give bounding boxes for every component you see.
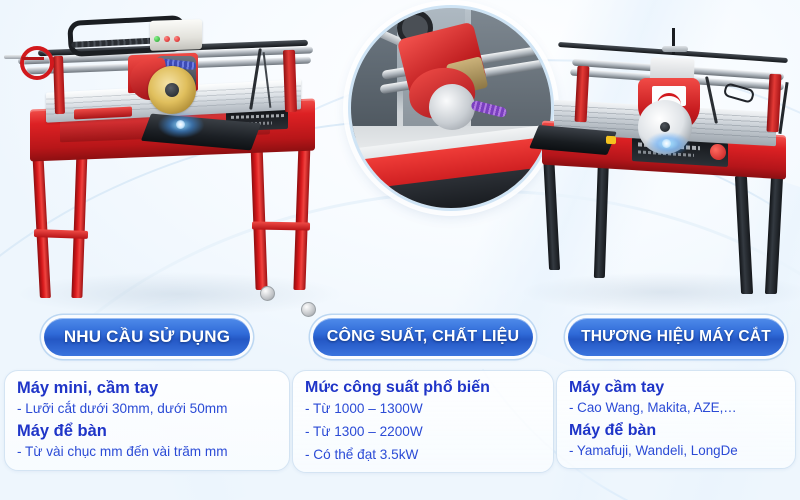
right-saw-adjust-knob	[662, 46, 688, 52]
card-thuong-hieu-may-cat: Máy cầm tay - Cao Wang, Makita, AZE,… Má…	[556, 370, 796, 469]
card-line: - Lưỡi cắt dưới 30mm, dưới 50mm	[17, 400, 279, 418]
card-heading: Máy mini, cầm tay	[17, 378, 279, 399]
left-saw-stop-button	[164, 36, 170, 42]
card-line: - Có thể đạt 3.5kW	[305, 446, 543, 464]
infographic-page: NHU CẦU SỬ DỤNG Máy mini, cầm tay - Lưỡi…	[0, 0, 800, 500]
pill-nhu-cau-su-dung[interactable]: NHU CẦU SỬ DỤNG	[44, 318, 250, 356]
left-saw-leg	[250, 140, 267, 290]
left-saw-leg-brace	[252, 221, 310, 230]
card-line: - Từ 1000 – 1300W	[305, 400, 543, 418]
card-heading: Máy để bàn	[17, 421, 279, 442]
column-nhu-cau-su-dung: NHU CẦU SỬ DỤNG Máy mini, cầm tay - Lưỡi…	[4, 312, 290, 500]
left-saw-emergency-button	[174, 36, 180, 42]
card-line: - Yamafuji, Wandeli, LongDe	[569, 442, 785, 459]
left-saw-spark-core	[176, 120, 185, 129]
column-cong-suat-chat-lieu: CÔNG SUẤT, CHẤT LIỆU Mức công suất phổ b…	[292, 312, 554, 500]
right-saw-spark-core	[662, 139, 671, 148]
right-tile-saw-photo	[520, 24, 800, 302]
left-saw-caster-wheel	[260, 286, 275, 301]
card-heading: Máy cầm tay	[569, 378, 785, 398]
card-line: - Từ 1300 – 2200W	[305, 423, 543, 441]
left-saw-control-box	[150, 19, 202, 51]
left-saw-blade	[148, 66, 196, 114]
left-saw-leg	[71, 148, 87, 298]
card-nhu-cau-su-dung: Máy mini, cầm tay - Lưỡi cắt dưới 30mm, …	[4, 370, 290, 471]
product-photo-stage	[0, 0, 800, 312]
card-line: - Từ vài chục mm đến vài trăm mm	[17, 443, 279, 461]
left-saw-upright-post	[283, 50, 297, 112]
right-saw-brand-logo	[710, 144, 726, 161]
left-saw-start-button	[154, 36, 160, 42]
card-line: - Cao Wang, Makita, AZE,…	[569, 399, 785, 416]
card-heading: Máy để bàn	[569, 421, 785, 441]
pill-thuong-hieu-may-cat[interactable]: THƯƠNG HIỆU MÁY CẮT	[568, 318, 784, 356]
left-saw-handwheel-spoke	[22, 57, 44, 60]
right-saw-leg	[594, 154, 609, 278]
right-saw-leg	[735, 176, 753, 294]
card-heading: Mức công suất phổ biến	[305, 378, 543, 398]
left-saw-leg	[32, 148, 51, 298]
criteria-columns: NHU CẦU SỬ DỤNG Máy mini, cầm tay - Lưỡi…	[0, 312, 800, 500]
pill-cong-suat-chat-lieu[interactable]: CÔNG SUẤT, CHẤT LIỆU	[313, 318, 533, 356]
right-saw-leg	[543, 152, 560, 270]
left-saw-leg	[293, 140, 310, 290]
column-thuong-hieu-may-cat: THƯƠNG HIỆU MÁY CẮT Máy cầm tay - Cao Wa…	[556, 312, 796, 500]
left-saw-upright-post	[53, 56, 65, 114]
right-saw-leg	[765, 176, 783, 294]
left-tile-saw-photo	[8, 8, 358, 308]
card-cong-suat-chat-lieu: Mức công suất phổ biến - Từ 1000 – 1300W…	[292, 370, 554, 473]
left-saw-handwheel	[20, 46, 54, 80]
right-saw-switch	[606, 136, 616, 145]
